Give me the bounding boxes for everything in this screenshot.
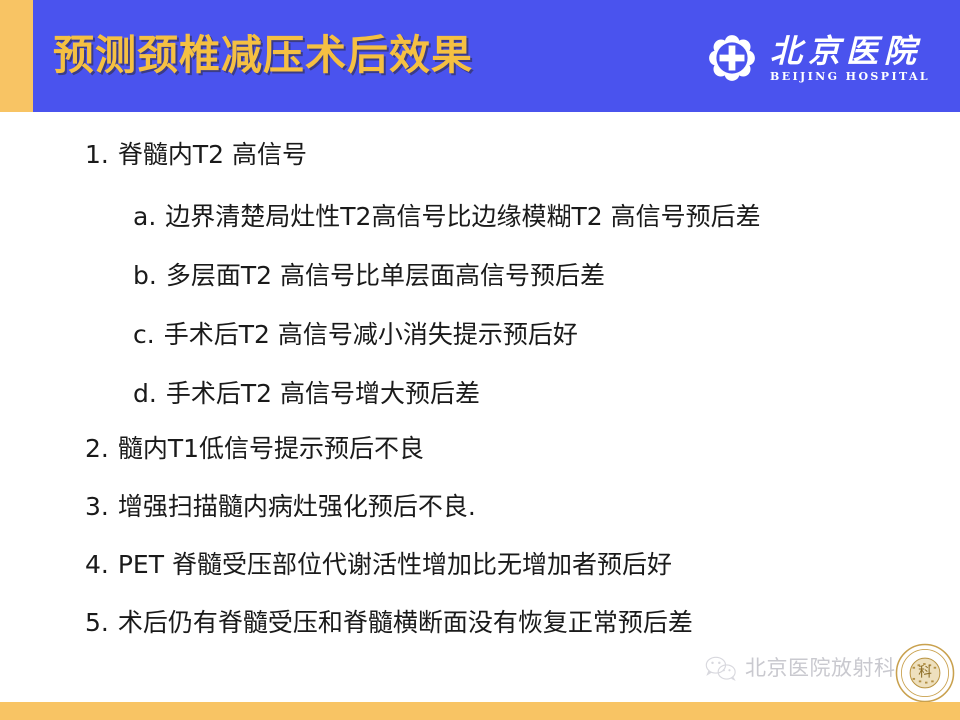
list-text: 髓内T1低信号提示预后不良: [118, 432, 424, 466]
list-marker: a.: [133, 200, 156, 234]
list-item: 2. 髓内T1低信号提示预后不良: [85, 432, 424, 466]
list-item: a. 边界清楚局灶性T2高信号比边缘模糊T2 高信号预后差: [133, 200, 761, 234]
hospital-name-cn: 北京医院: [770, 33, 930, 69]
list-marker: 2.: [85, 432, 109, 466]
list-item: 4. PET 脊髓受压部位代谢活性增加比无增加者预后好: [85, 548, 672, 582]
footer-accent-bar: [0, 702, 960, 720]
page-title: 预测颈椎减压术后效果: [53, 26, 473, 84]
list-item: b. 多层面T2 高信号比单层面高信号预后差: [133, 259, 605, 293]
watermark-text: 北京医院放射科: [745, 655, 896, 681]
list-text: 多层面T2 高信号比单层面高信号预后差: [166, 259, 605, 293]
list-text: 手术后T2 高信号增大预后差: [166, 377, 480, 411]
list-item: 1. 脊髓内T2 高信号: [85, 138, 307, 172]
radiology-department-seal-icon: 科: [894, 642, 956, 704]
slide-header: 预测颈椎减压术后效果 北京医院 BEIJING HOSPITAL: [0, 0, 960, 112]
list-marker: b.: [133, 259, 157, 293]
list-text: 边界清楚局灶性T2高信号比边缘模糊T2 高信号预后差: [165, 200, 760, 234]
svg-text:科: 科: [918, 665, 932, 681]
slide: 预测颈椎减压术后效果 北京医院 BEIJING HOSPITAL 1.: [0, 0, 960, 720]
list-item: 3. 增强扫描髓内病灶强化预后不良.: [85, 490, 476, 524]
wechat-icon: [704, 655, 738, 681]
slide-body: 1. 脊髓内T2 高信号 a. 边界清楚局灶性T2高信号比边缘模糊T2 高信号预…: [0, 112, 960, 702]
header-accent-bar: [0, 0, 33, 112]
list-marker: 3.: [85, 490, 109, 524]
hospital-cross-emblem-icon: [706, 32, 758, 84]
list-marker: d.: [133, 377, 157, 411]
list-text: 脊髓内T2 高信号: [118, 138, 307, 172]
list-item: 5. 术后仍有脊髓受压和脊髓横断面没有恢复正常预后差: [85, 606, 693, 640]
hospital-logo-text: 北京医院 BEIJING HOSPITAL: [770, 30, 930, 86]
hospital-name-en: BEIJING HOSPITAL: [770, 70, 930, 84]
list-text: 增强扫描髓内病灶强化预后不良.: [118, 490, 476, 524]
hospital-logo: 北京医院 BEIJING HOSPITAL: [706, 26, 930, 90]
list-marker: 4.: [85, 548, 109, 582]
list-text: 手术后T2 高信号减小消失提示预后好: [164, 318, 578, 352]
list-marker: 1.: [85, 138, 109, 172]
watermark: 北京医院放射科: [704, 646, 896, 690]
list-item: c. 手术后T2 高信号减小消失提示预后好: [133, 318, 578, 352]
list-item: d. 手术后T2 高信号增大预后差: [133, 377, 480, 411]
list-text: PET 脊髓受压部位代谢活性增加比无增加者预后好: [118, 548, 672, 582]
list-marker: c.: [133, 318, 155, 352]
list-marker: 5.: [85, 606, 109, 640]
list-text: 术后仍有脊髓受压和脊髓横断面没有恢复正常预后差: [118, 606, 693, 640]
